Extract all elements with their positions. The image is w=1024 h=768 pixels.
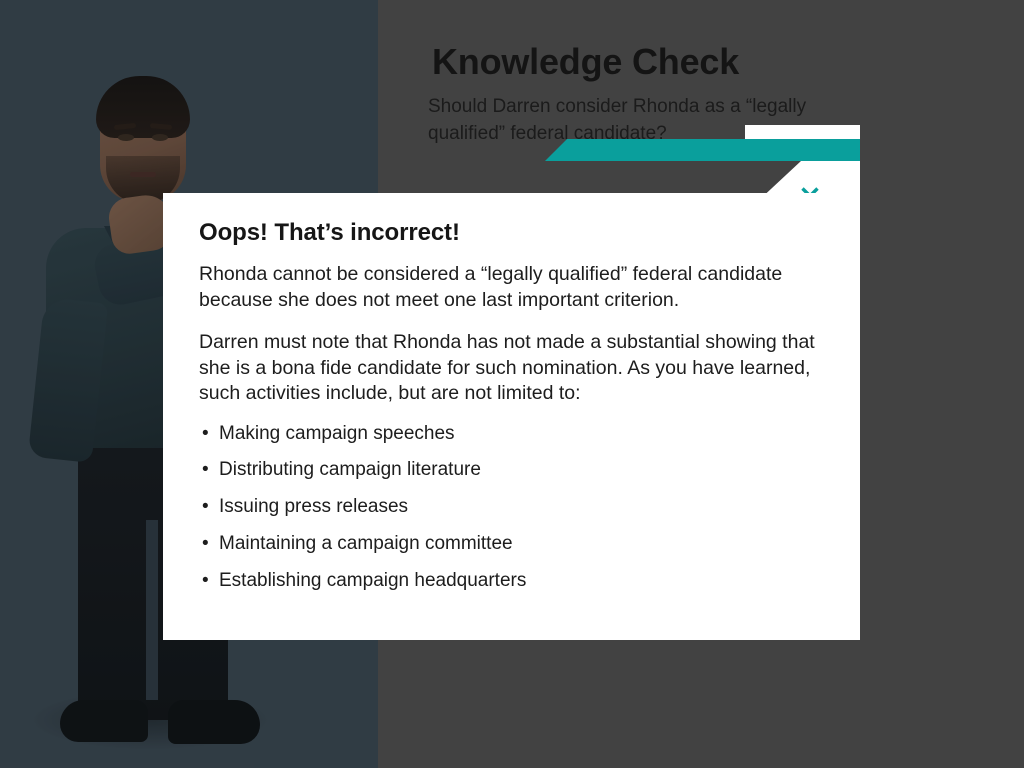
modal-body: Oops! That’s incorrect! Rhonda cannot be… (199, 219, 830, 606)
list-item-label: Making campaign speeches (219, 423, 455, 444)
bullet-glyph: • (202, 495, 209, 519)
bullet-glyph: • (202, 458, 209, 482)
list-item: •Distributing campaign literature (199, 458, 830, 482)
bullet-glyph: • (202, 532, 209, 556)
feedback-modal: Oops! That’s incorrect! Rhonda cannot be… (163, 193, 860, 640)
list-item: •Establishing campaign headquarters (199, 569, 830, 593)
modal-paragraph-1: Rhonda cannot be considered a “legally q… (199, 262, 817, 313)
list-item: •Issuing press releases (199, 495, 830, 519)
list-item: •Making campaign speeches (199, 422, 830, 446)
teal-accent-bar (545, 139, 860, 161)
list-item: •Maintaining a campaign committee (199, 532, 830, 556)
list-item-label: Establishing campaign headquarters (219, 570, 526, 591)
modal-paragraph-2: Darren must note that Rhonda has not mad… (199, 330, 817, 407)
bullet-glyph: • (202, 569, 209, 593)
slide-canvas: Knowledge Check Should Darren consider R… (0, 0, 1024, 768)
bullet-glyph: • (202, 422, 209, 446)
activities-list: •Making campaign speeches •Distributing … (199, 422, 830, 594)
page-title: Knowledge Check (432, 42, 992, 82)
modal-heading: Oops! That’s incorrect! (199, 219, 830, 247)
list-item-label: Maintaining a campaign committee (219, 533, 513, 554)
list-item-label: Distributing campaign literature (219, 459, 481, 480)
list-item-label: Issuing press releases (219, 496, 408, 517)
